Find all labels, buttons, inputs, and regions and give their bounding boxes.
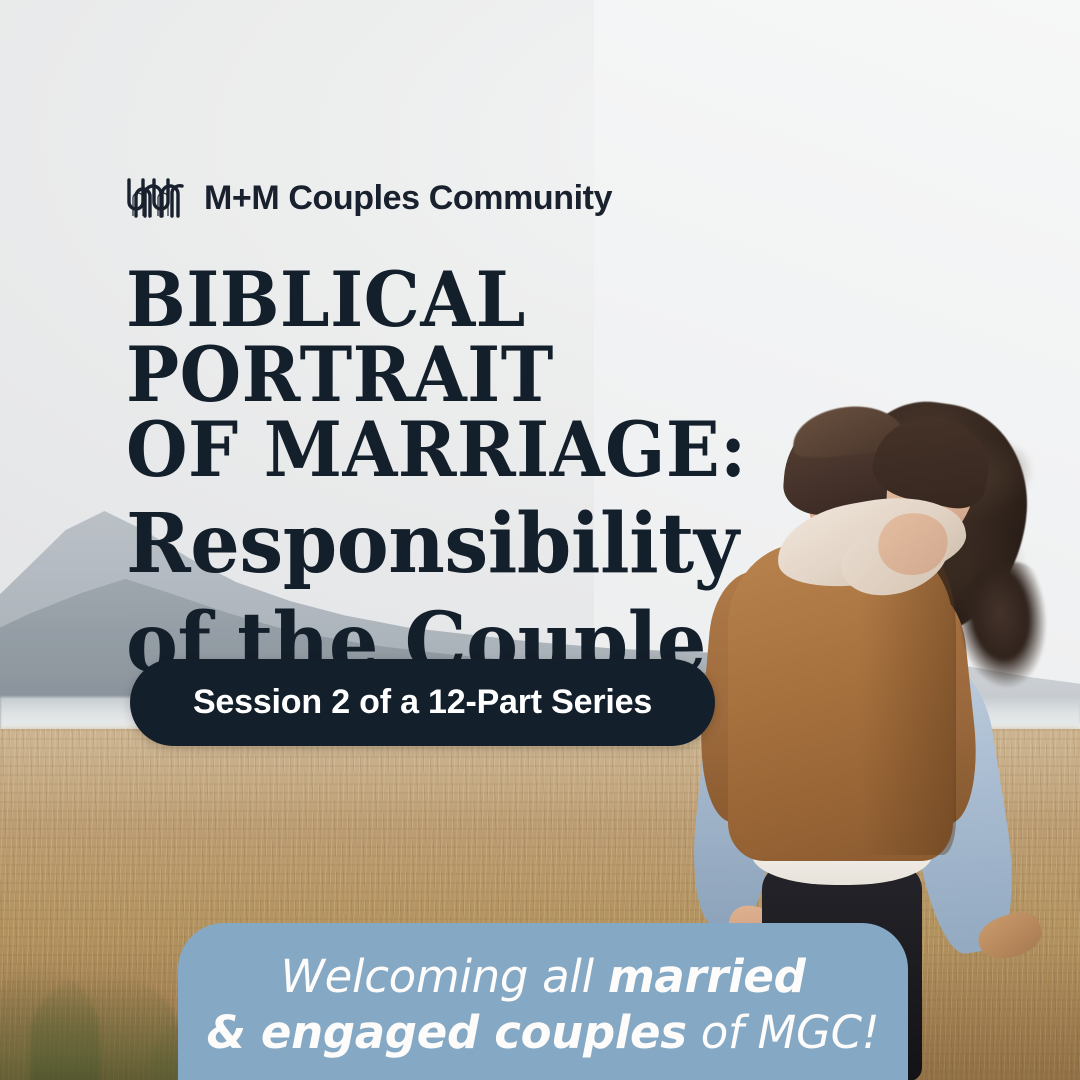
promo-poster: M+M Couples Community BIBLICAL PORTRAIT … [0,0,1080,1080]
headline-line-3: Responsibility [126,502,905,587]
banner-line-1-strong: married [608,950,806,1003]
banner-line-1: Welcoming all married [280,951,805,1002]
banner-line-2: & engaged couples of MGC! [207,1007,880,1058]
poster-content: M+M Couples Community BIBLICAL PORTRAIT … [0,0,1080,1080]
banner-line-2-tail: of MGC! [687,1006,880,1059]
headline-line-1: BIBLICAL PORTRAIT [126,262,889,412]
mm-monogram-loops-icon [124,172,186,224]
headline-line-2: OF MARRIAGE: [126,412,889,487]
page-title: BIBLICAL PORTRAIT OF MARRIAGE: Responsib… [126,262,946,686]
status-badge: Session 2 of a 12-Part Series [130,659,715,746]
banner-line-1-lead: Welcoming all [280,950,607,1003]
brand-name: M+M Couples Community [204,179,612,218]
banner-line-2-strong: & engaged couples [207,1006,687,1059]
welcome-banner: Welcoming all married & engaged couples … [178,923,908,1080]
session-badge-label: Session 2 of a 12-Part Series [193,683,652,722]
brand-lockup: M+M Couples Community [124,172,612,224]
